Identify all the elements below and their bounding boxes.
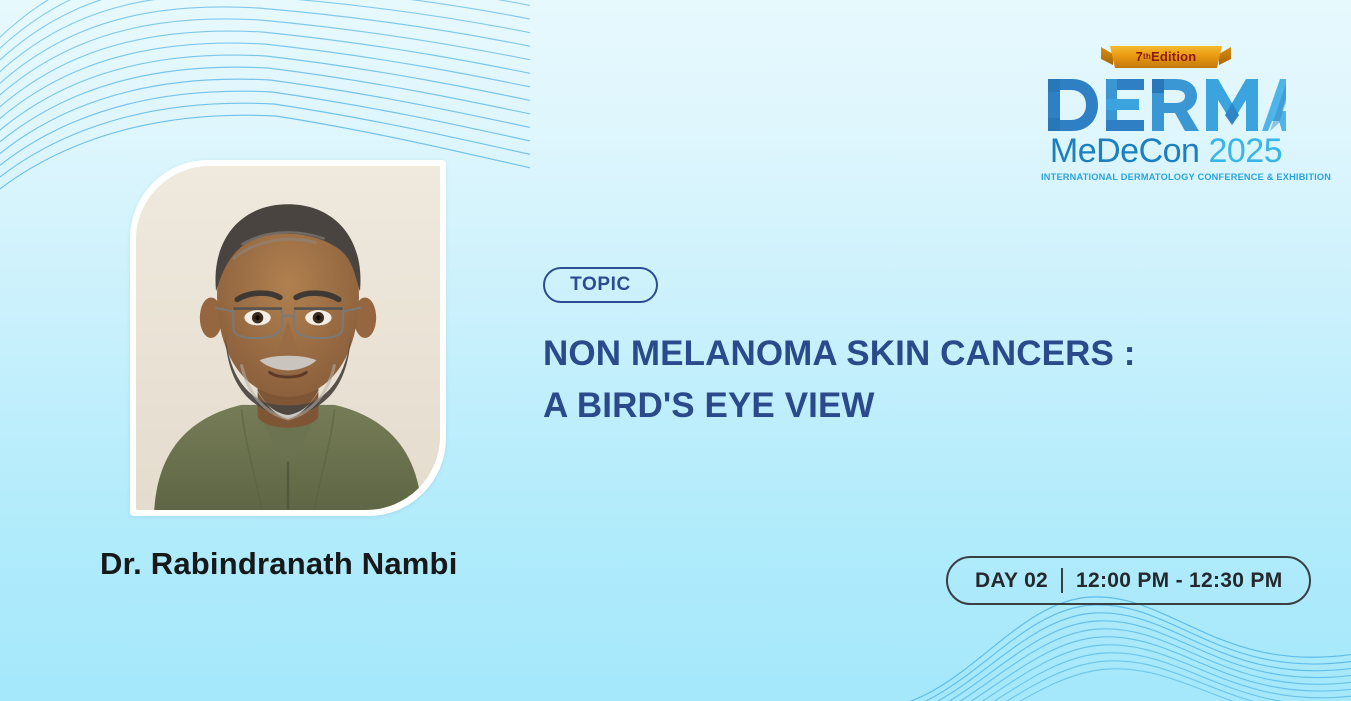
edition-ribbon: 7th Edition	[1101, 43, 1231, 71]
logo-year: 2025	[1208, 134, 1282, 168]
session-title-line-2: A BIRD'S EYE VIEW	[543, 380, 1263, 432]
edition-number: 7	[1136, 49, 1143, 64]
edition-ribbon-label: 7th Edition	[1101, 43, 1231, 71]
logo-subtitle-row: MeDeCon 2025	[1041, 134, 1291, 168]
session-day: DAY 02	[975, 569, 1048, 593]
session-title: NON MELANOMA SKIN CANCERS : A BIRD'S EYE…	[543, 328, 1263, 432]
session-time-range: 12:00 PM - 12:30 PM	[1076, 569, 1282, 593]
speaker-photo	[136, 166, 440, 510]
speaker-name: Dr. Rabindranath Nambi	[100, 546, 520, 582]
derma-wordmark	[1046, 77, 1286, 133]
event-logo: 7th Edition MeDeCon 2025	[1041, 43, 1291, 182]
session-title-line-1: NON MELANOMA SKIN CANCERS :	[543, 328, 1263, 380]
logo-tagline: INTERNATIONAL DERMATOLOGY CONFERENCE & E…	[1041, 172, 1291, 182]
topic-badge-label: TOPIC	[570, 274, 631, 296]
logo-brand-secondary: MeDeCon	[1050, 134, 1200, 168]
schedule-divider	[1061, 568, 1063, 593]
session-schedule-badge: DAY 02 12:00 PM - 12:30 PM	[946, 556, 1311, 605]
session-announcement-poster: Dr. Rabindranath Nambi TOPIC NON MELANOM…	[0, 0, 1351, 701]
edition-ordinal: th	[1143, 52, 1151, 61]
portrait-illustration	[136, 166, 440, 510]
speaker-photo-frame	[130, 160, 446, 516]
topic-badge: TOPIC	[543, 267, 658, 303]
edition-word: Edition	[1151, 49, 1196, 64]
